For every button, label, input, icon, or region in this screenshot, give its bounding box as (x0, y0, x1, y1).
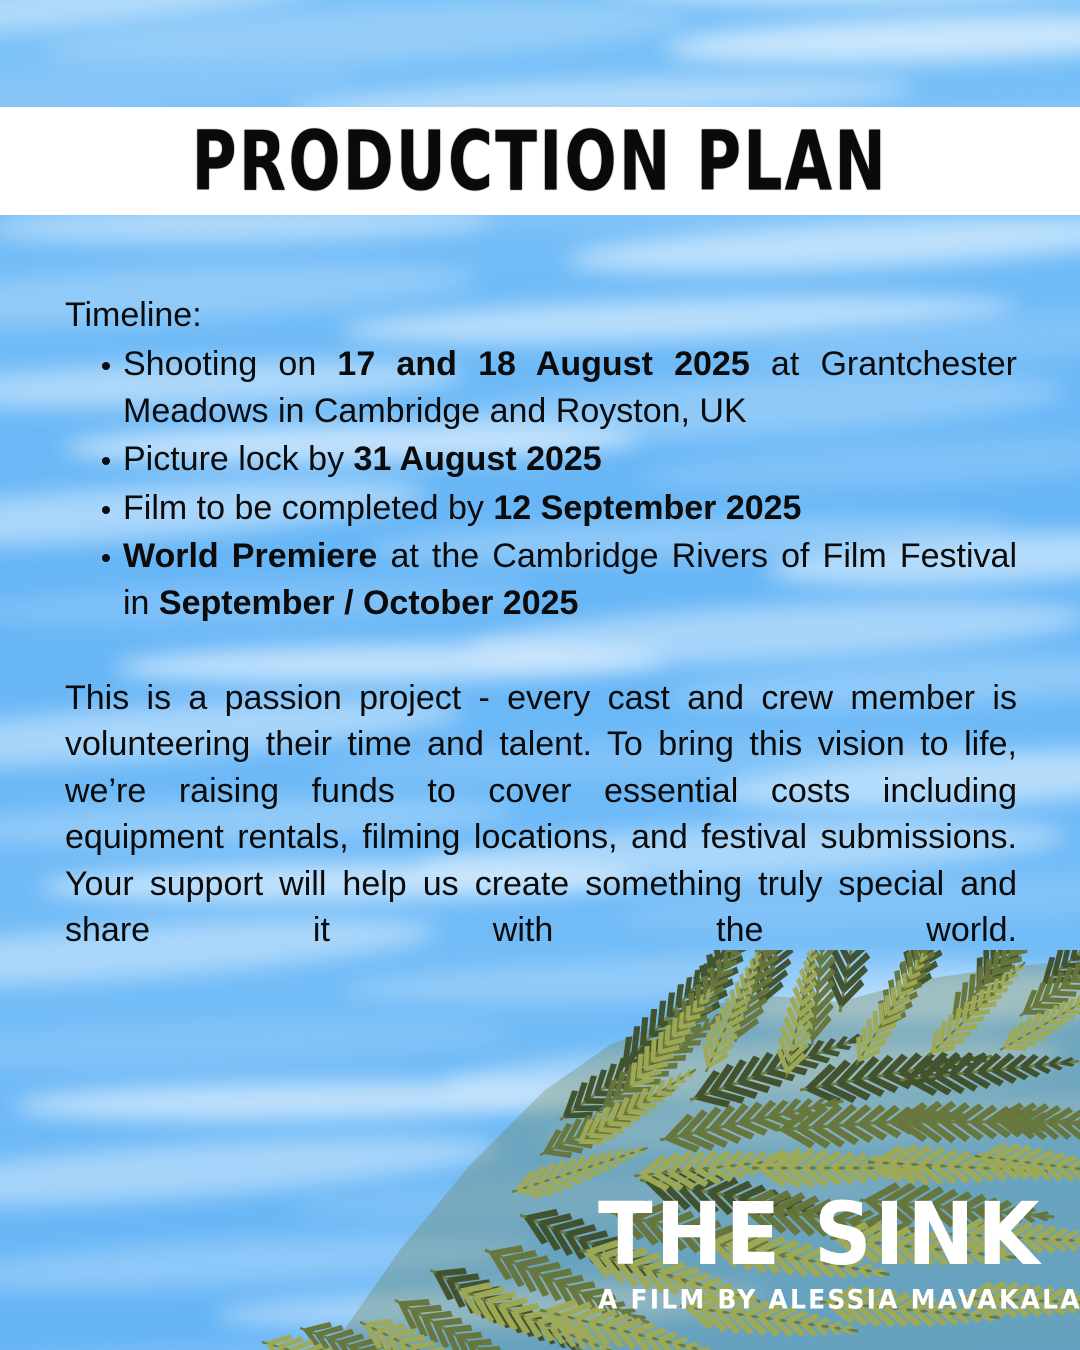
timeline-text: Film to be completed by (123, 489, 493, 527)
page-title: PRODUCTION PLAN (192, 120, 888, 202)
timeline-highlight: 31 August 2025 (354, 440, 602, 478)
poster-root: PRODUCTION PLAN Timeline: Shooting on 17… (0, 0, 1080, 1350)
timeline-highlight: World Premiere (123, 537, 377, 575)
timeline-list: Shooting on 17 and 18 August 2025 at Gra… (65, 341, 1017, 626)
film-credit: A FILM BY ALESSIA MAVAKALA (598, 1286, 1018, 1312)
timeline-highlight: September / October 2025 (159, 584, 579, 622)
timeline-text: Picture lock by (123, 440, 354, 478)
film-title: THE SINK (598, 1194, 1018, 1276)
support-paragraph: This is a passion project - every cast a… (65, 675, 1017, 1001)
timeline-item: Film to be completed by 12 September 202… (65, 485, 1017, 532)
cloud-streak (602, 0, 1080, 6)
timeline-item: Shooting on 17 and 18 August 2025 at Gra… (65, 341, 1017, 434)
timeline-item: World Premiere at the Cambridge Rivers o… (65, 533, 1017, 626)
timeline-item: Picture lock by 31 August 2025 (65, 436, 1017, 483)
timeline-text: Shooting on (123, 345, 337, 383)
title-banner: PRODUCTION PLAN (0, 107, 1080, 215)
timeline-label: Timeline: (65, 295, 1017, 335)
timeline-highlight: 17 and 18 August 2025 (337, 345, 749, 383)
timeline-highlight: 12 September 2025 (493, 489, 801, 527)
main-content: Timeline: Shooting on 17 and 18 August 2… (65, 295, 1017, 1001)
cloud-streak (14, 1077, 591, 1125)
film-title-block: THE SINK A FILM BY ALESSIA MAVAKALA (598, 1197, 1018, 1312)
cloud-streak (0, 1009, 516, 1077)
cloud-streak (0, 1333, 416, 1350)
cloud-streak (665, 8, 1080, 71)
